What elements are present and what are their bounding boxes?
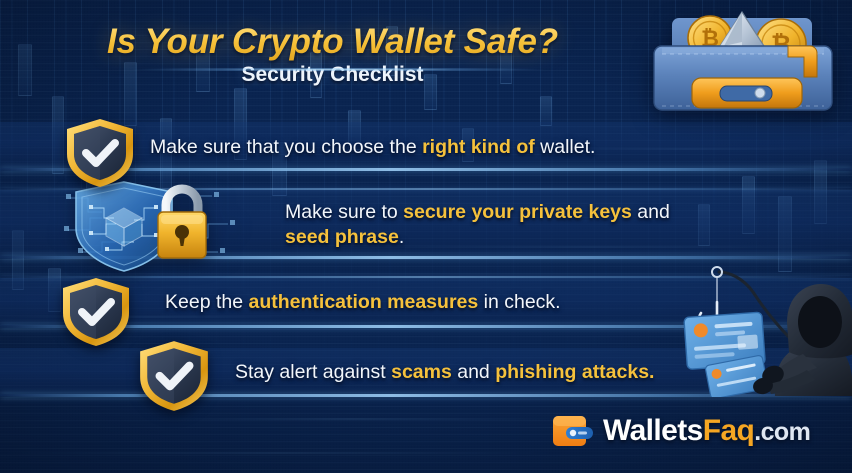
shield-check-icon [58,275,134,349]
row-2-seg-0: Make sure to [285,201,403,223]
wallet-logo-icon [552,414,594,448]
row-2-seg-4: . [399,226,404,248]
header-glow-line [78,68,598,71]
row-3-text: Keep the authentication measures in chec… [165,290,561,315]
row-4-seg-3: phishing attacks. [495,361,654,383]
row-2-seg-2: and [632,201,670,223]
row-4-seg-0: Stay alert against [235,361,391,383]
header: Is Your Crypto Wallet Safe? Security Che… [0,0,852,108]
row-4-seg-2: and [452,361,495,383]
row-2-seg-3: seed phrase [285,226,399,248]
logo-part-faq: Faq [703,414,755,447]
row-4-seg-1: scams [391,361,452,383]
row-3-seg-1: authentication measures [248,291,478,313]
phishing-hacker-illustration [657,262,852,397]
logo-text: WalletsFaq.com [603,414,810,448]
row-3-seg-0: Keep the [165,291,248,313]
row-2-seg-1: secure your private keys [403,201,632,223]
row-3-seg-2: in check. [478,291,560,313]
shield-check-icon [135,338,213,414]
logo-part-com: .com [754,418,810,446]
infographic-canvas: ₿ ₿ [0,0,852,473]
shield-padlock-illustration [62,178,242,274]
shield-check-icon [62,116,138,190]
row-1-text: Make sure that you choose the right kind… [150,135,595,160]
site-logo[interactable]: WalletsFaq.com [552,408,810,454]
row-4-text: Stay alert against scams and phishing at… [235,360,654,385]
row-1-seg-0: Make sure that you choose the [150,136,422,158]
logo-part-wallets: Wallets [603,414,703,447]
page-title: Is Your Crypto Wallet Safe? [0,22,665,62]
row-1-seg-2: wallet. [535,136,596,158]
page-subtitle: Security Checklist [0,63,665,87]
row-1-seg-1: right kind of [422,136,535,158]
row-2-text: Make sure to secure your private keys an… [285,200,705,250]
